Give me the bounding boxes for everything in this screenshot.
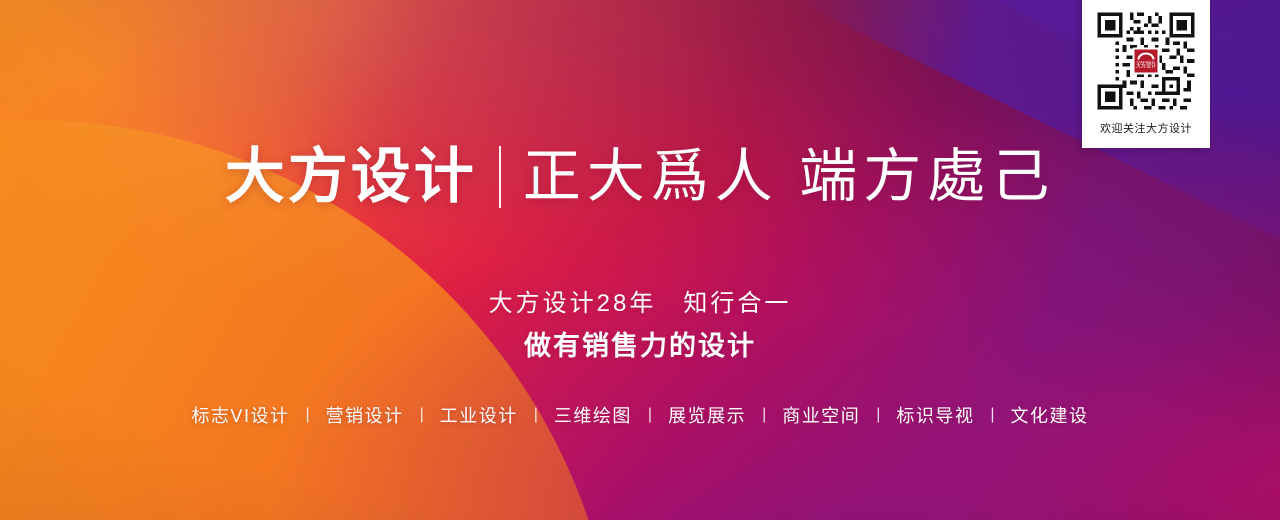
- service-list: 标志VI设计 | 营销设计 | 工业设计 | 三维绘图 | 展览展示 | 商业空…: [0, 402, 1280, 428]
- logo-chinese-text: 大方设计: [1136, 65, 1156, 71]
- service-item-3d-drawing[interactable]: 三维绘图: [538, 402, 648, 428]
- promo-banner: 大方设计 正大爲人 端方處己 大方设计28年 知行合一 做有销售力的设计 标志V…: [0, 0, 1280, 520]
- brand-motto: 正大爲人 端方處己: [523, 148, 1056, 206]
- service-item-industrial[interactable]: 工业设计: [424, 402, 534, 428]
- banner-content: 大方设计 正大爲人 端方處己 大方设计28年 知行合一 做有销售力的设计 标志V…: [0, 0, 1280, 520]
- brand-name: 大方设计: [225, 147, 477, 207]
- service-item-marketing[interactable]: 营销设计: [310, 402, 420, 428]
- logo-arc-icon: [1138, 52, 1155, 59]
- service-item-logo-vi[interactable]: 标志VI设计: [175, 402, 305, 428]
- service-item-commercial-space[interactable]: 商业空间: [766, 402, 876, 428]
- title-divider: [499, 146, 501, 208]
- qr-center-logo: DAFANG 大方设计: [1133, 48, 1160, 75]
- service-item-signage[interactable]: 标识导视: [880, 402, 990, 428]
- qr-card[interactable]: DAFANG 大方设计 欢迎关注大方设计: [1082, 0, 1210, 148]
- tagline-secondary: 做有销售力的设计: [0, 324, 1280, 363]
- qr-code[interactable]: DAFANG 大方设计: [1094, 9, 1198, 113]
- tagline-primary: 大方设计28年 知行合一: [0, 283, 1280, 318]
- qr-caption: 欢迎关注大方设计: [1100, 120, 1192, 136]
- service-item-exhibition[interactable]: 展览展示: [652, 402, 762, 428]
- service-item-culture[interactable]: 文化建设: [995, 402, 1105, 428]
- headline-row: 大方设计 正大爲人 端方處己: [0, 146, 1280, 208]
